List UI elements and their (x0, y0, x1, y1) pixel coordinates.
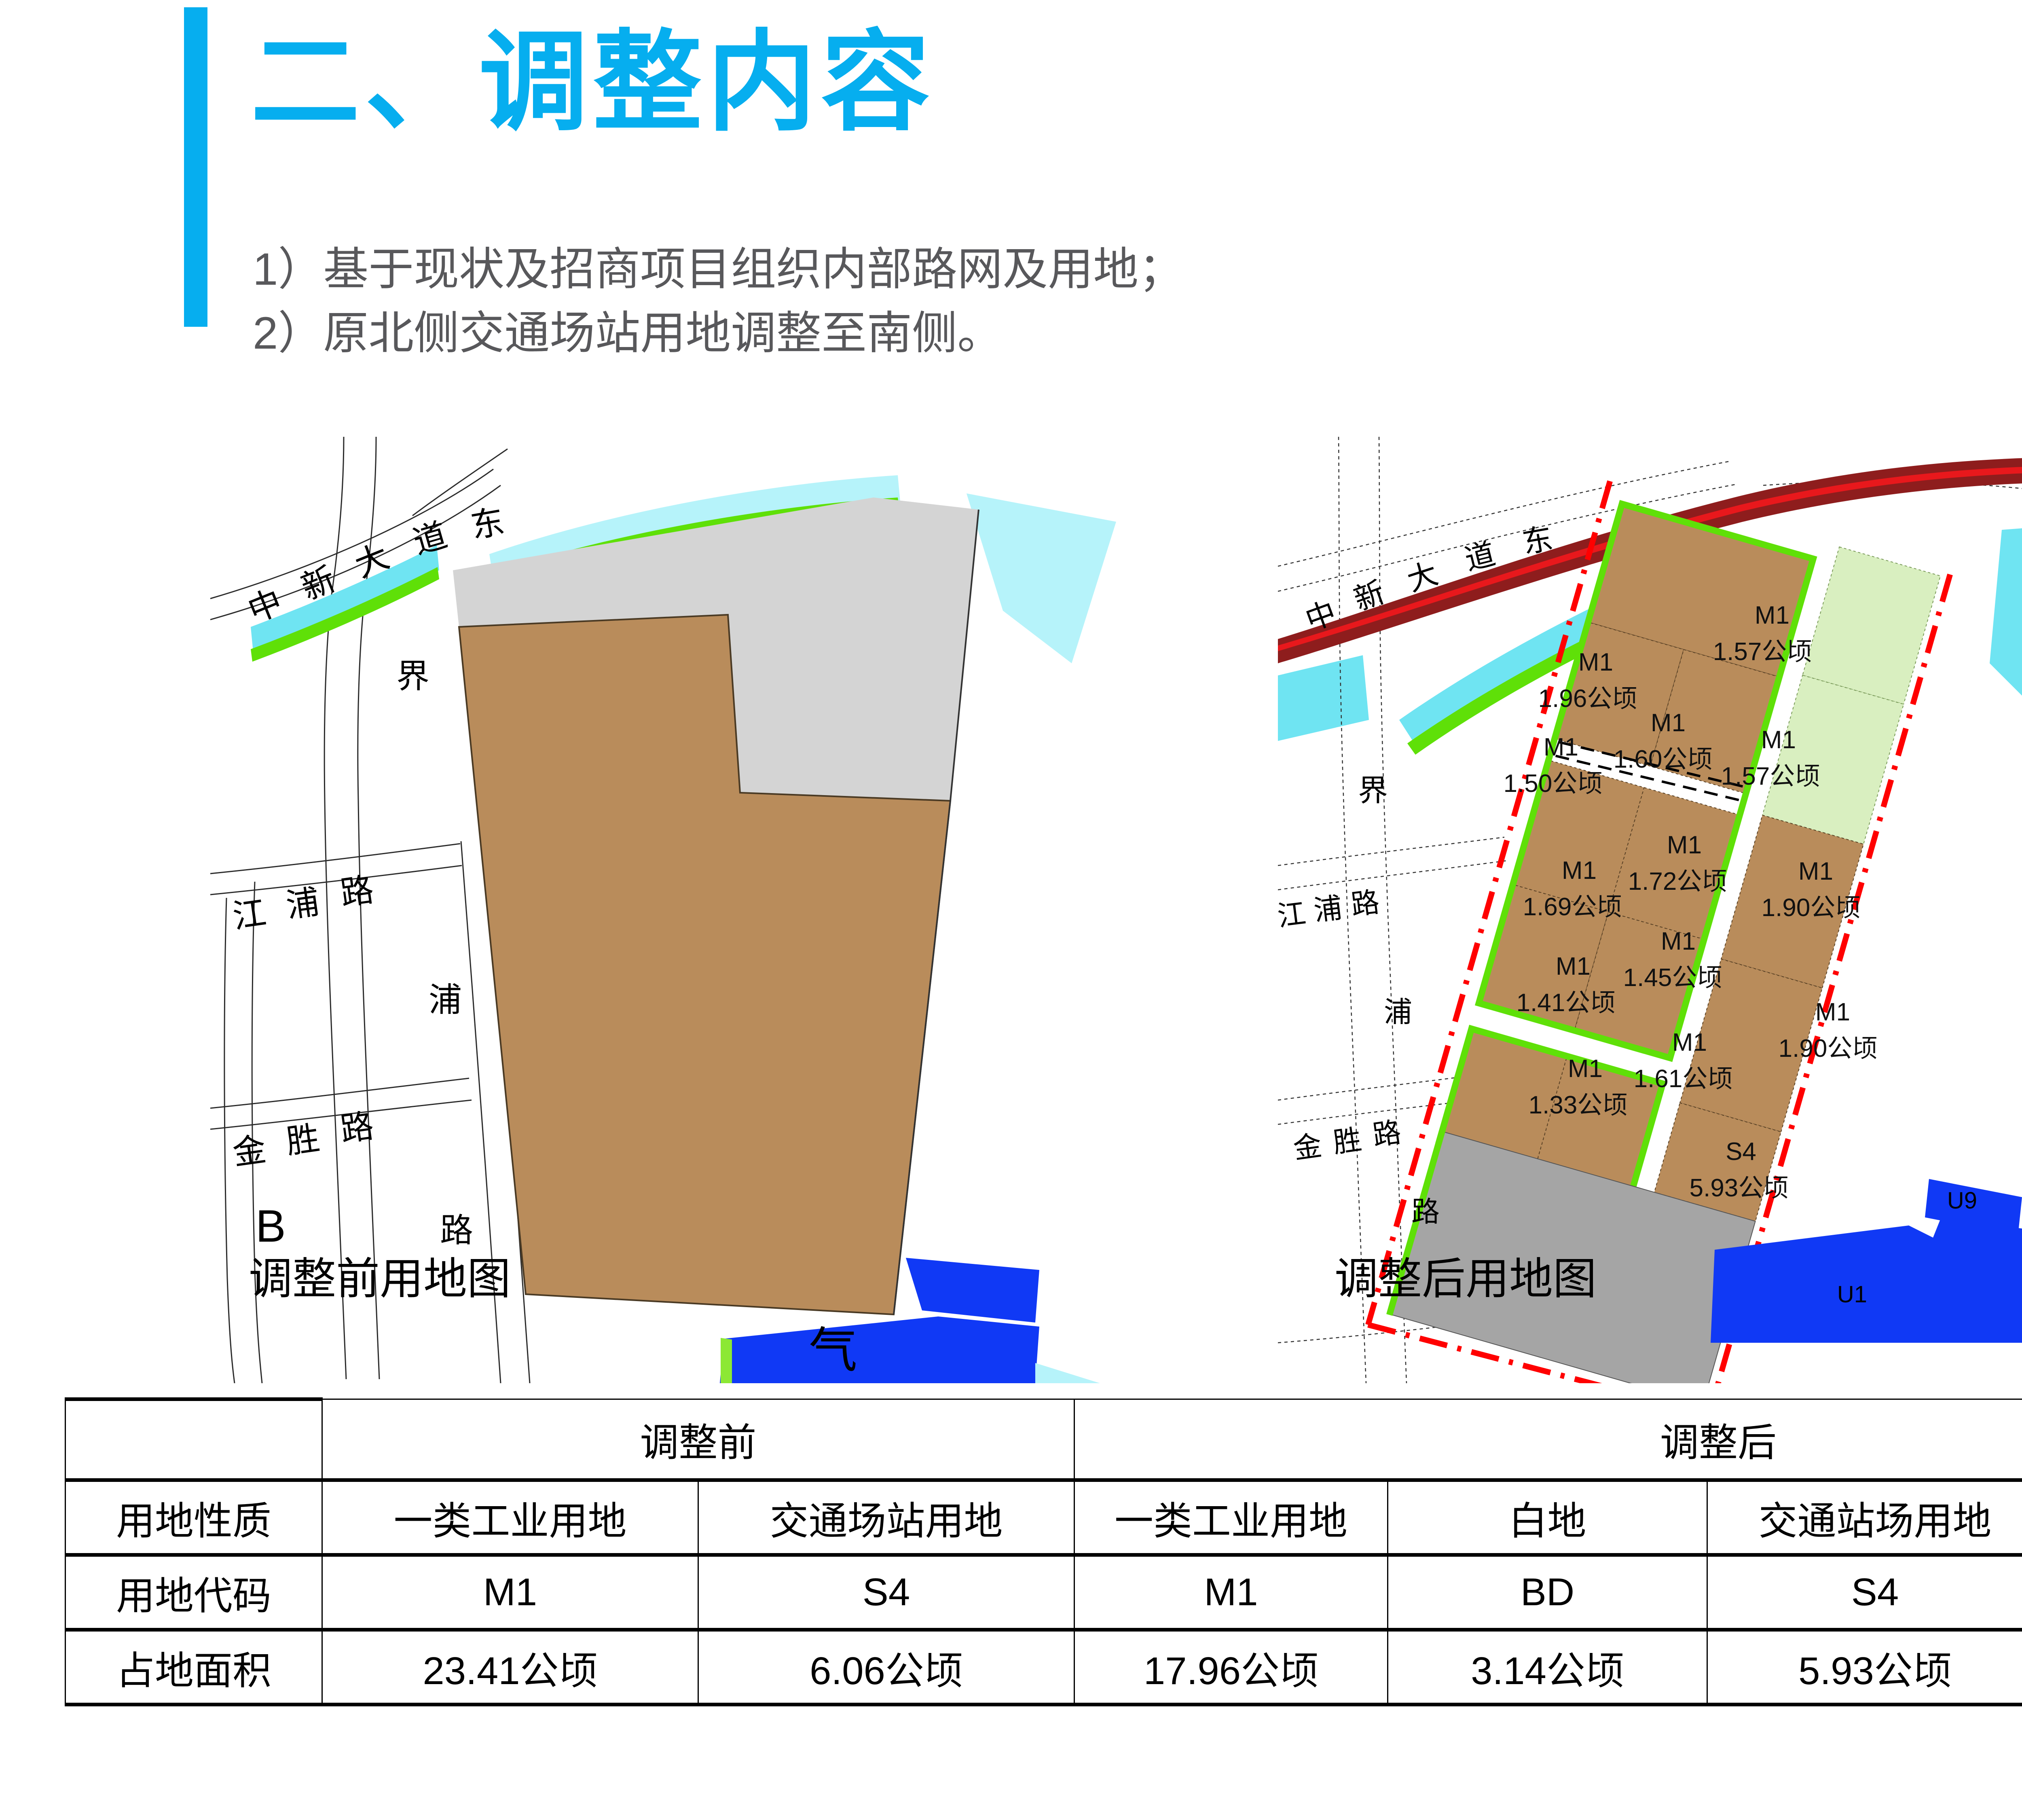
parcel-code: M1 (1578, 648, 1613, 676)
parcel-area: 5.93公顷 (1690, 1174, 1789, 1202)
utility-green-edge (721, 1338, 732, 1383)
parcel-code: M1 (1667, 831, 1702, 859)
road-label-jiang: 江 (1278, 897, 1307, 932)
parcel-area: 1.61公顷 (1634, 1065, 1733, 1093)
boundary-label-jie: 界 (1358, 774, 1388, 807)
parcel-area: 1.50公顷 (1504, 770, 1603, 798)
parcel-area: 1.60公顷 (1614, 745, 1713, 773)
title-accent-bar (184, 7, 207, 327)
parcel-area: 1.90公顷 (1762, 894, 1861, 922)
row-label-area: 占地面积 (66, 1630, 322, 1705)
map-before-adjustment[interactable]: 中 新 大 道 东 界 江 浦 路 浦 金 胜 路 路 B 气 (210, 437, 1270, 1383)
road-label-dao: 道 (1462, 537, 1499, 576)
water-body (967, 493, 1116, 663)
parcel-code: M1 (1798, 857, 1833, 885)
parcel-code: S4 (1726, 1138, 1756, 1166)
cell-area-0: 23.41公顷 (322, 1630, 698, 1705)
utility-parcel-U1 (1711, 1217, 2022, 1343)
cell-area-3: 3.14公顷 (1388, 1630, 1707, 1705)
table-group-header-row: 调整前 调整后 (66, 1399, 2022, 1480)
road-label-dong: 东 (468, 503, 507, 545)
table-corner-cell (66, 1399, 322, 1480)
road-label-lu: 路 (338, 871, 376, 912)
table-row-area: 占地面积 23.41公顷 6.06公顷 17.96公顷 3.14公顷 5.93公… (66, 1630, 2022, 1705)
parcel-area: 1.57公顷 (1721, 762, 1820, 790)
water-right (1990, 520, 2022, 760)
utility-parcel-small (906, 1258, 1039, 1323)
road-label-dao: 道 (409, 516, 451, 561)
cell-code-0: M1 (322, 1555, 698, 1630)
page-title: 二、调整内容 (251, 28, 935, 138)
parcel-area: 1.72公顷 (1628, 868, 1727, 895)
road-label-pu2: 浦 (1384, 996, 1412, 1028)
utility-parcel-gas (720, 1316, 1039, 1383)
parcel-area: 1.57公顷 (1713, 638, 1812, 666)
parcel-code: M1 (1556, 952, 1591, 980)
label-U9: U9 (1947, 1187, 1977, 1214)
landuse-comparison-table[interactable]: 调整前 调整后 用地性质 一类工业用地 交通场站用地 一类工业用地 白地 交通站… (65, 1397, 2022, 1706)
parcel-area: 1.41公顷 (1516, 989, 1616, 1017)
map-after-caption: 调整后用地图 (1335, 1244, 1597, 1307)
parcel-code: M1 (1755, 601, 1789, 629)
parcel-code: M1 (1672, 1029, 1707, 1056)
parcel-code: M1 (1544, 733, 1578, 761)
parcel-code: M1 (1815, 998, 1850, 1026)
block-label-qi: 气 (809, 1323, 857, 1378)
parcel-area: 1.90公顷 (1779, 1035, 1878, 1062)
table-row-code: 用地代码 M1 S4 M1 BD S4 G2 (66, 1555, 2022, 1630)
cell-code-1: S4 (698, 1555, 1074, 1630)
parcel-code: M1 (1651, 709, 1686, 737)
table-row-nature: 用地性质 一类工业用地 交通场站用地 一类工业用地 白地 交通站场用地 防护绿地 (66, 1480, 2022, 1555)
body-text-line-1: 1）基于现状及招商项目组织内部路网及用地； (253, 243, 1184, 296)
parcel-area: 1.45公顷 (1623, 964, 1722, 992)
cell-nature-1: 交通场站用地 (698, 1480, 1074, 1555)
cell-nature-0: 一类工业用地 (322, 1480, 698, 1555)
parcel-code: M1 (1562, 857, 1597, 885)
road-label-lu2: 路 (338, 1107, 376, 1149)
water-left (1278, 655, 1369, 741)
road-label-pu: 浦 (1312, 892, 1344, 927)
slide-root: 二、调整内容 1）基于现状及招商项目组织内部路网及用地； 2）原北侧交通场站用地… (0, 0, 2022, 1820)
road-label-jin: 金 (1291, 1130, 1324, 1165)
road-label-lu: 路 (1349, 886, 1381, 921)
cell-nature-2: 一类工业用地 (1074, 1480, 1388, 1555)
cell-area-1: 6.06公顷 (698, 1630, 1074, 1705)
parcel-area: 1.69公顷 (1523, 893, 1622, 921)
parcel-area: 1.33公顷 (1529, 1091, 1628, 1119)
cell-code-2: M1 (1074, 1555, 1388, 1630)
cell-area-2: 17.96公顷 (1074, 1630, 1388, 1705)
parcel-code: M1 (1568, 1055, 1603, 1083)
road-label-pu: 浦 (284, 883, 322, 925)
cell-code-3: BD (1388, 1555, 1707, 1630)
map-after-adjustment[interactable]: 中 新 大 道 东 界 江 浦 路 浦 金 胜 路 路 M1 1.96公顷 (1278, 437, 2022, 1383)
road-label-pu2: 浦 (429, 982, 462, 1018)
water-sliver (1035, 1363, 1100, 1383)
road-label-lu3: 路 (1411, 1196, 1440, 1227)
row-label-code: 用地代码 (66, 1555, 322, 1630)
boundary-label-jie: 界 (396, 658, 429, 695)
group-header-before: 调整前 (322, 1399, 1074, 1480)
road-label-sheng: 胜 (284, 1120, 322, 1161)
cell-code-4: S4 (1707, 1555, 2022, 1630)
road-label-jiang: 江 (231, 894, 269, 935)
label-U1: U1 (1837, 1281, 1867, 1308)
map-before-caption: 调整前用地图 (249, 1244, 511, 1307)
parcel-code: M1 (1661, 927, 1696, 955)
cell-nature-3: 白地 (1388, 1480, 1707, 1555)
parcel-area: 1.96公顷 (1538, 685, 1637, 713)
road-label-lu2: 路 (1371, 1116, 1403, 1151)
road-label-sheng: 胜 (1331, 1124, 1363, 1159)
road-label-jin: 金 (231, 1131, 269, 1172)
parcel-code: M1 (1761, 726, 1796, 754)
map-after-svg: 中 新 大 道 东 界 江 浦 路 浦 金 胜 路 路 M1 1.96公顷 (1278, 437, 2022, 1383)
body-text-line-2: 2）原北侧交通场站用地调整至南侧。 (253, 307, 1003, 360)
cell-area-4: 5.93公顷 (1707, 1630, 2022, 1705)
row-label-nature: 用地性质 (66, 1480, 322, 1555)
cell-nature-4: 交通站场用地 (1707, 1480, 2022, 1555)
road-label-dong: 东 (1520, 521, 1555, 560)
group-header-after: 调整后 (1074, 1399, 2022, 1480)
map-before-svg: 中 新 大 道 东 界 江 浦 路 浦 金 胜 路 路 B 气 (210, 437, 1270, 1383)
